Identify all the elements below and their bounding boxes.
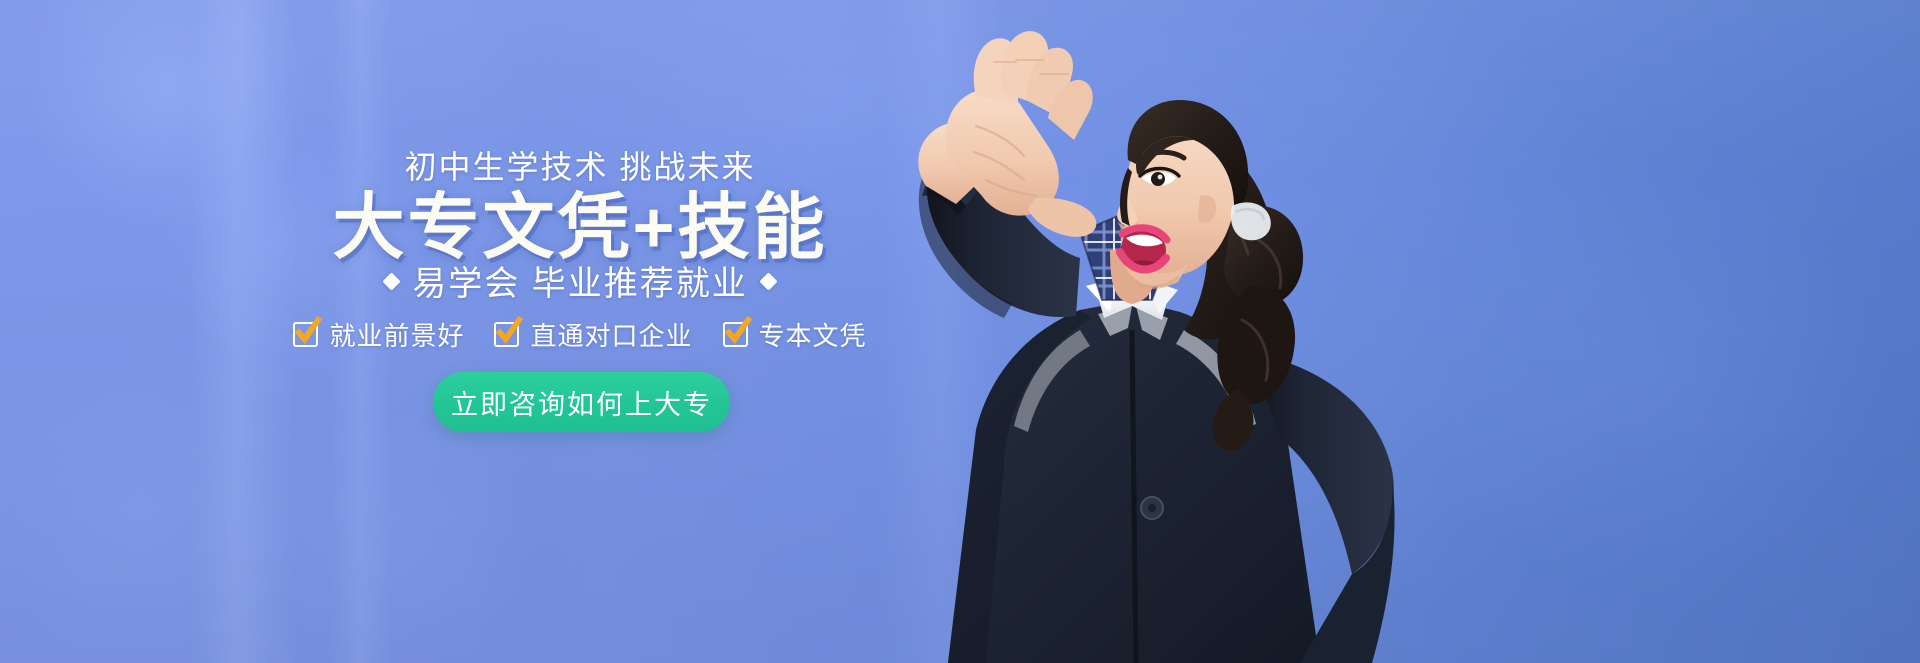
banner-subline-text: 易学会 毕业推荐就业 (412, 256, 747, 307)
checkbox-checked-icon (494, 322, 519, 347)
diamond-icon (383, 272, 401, 290)
consult-cta-button[interactable]: 立即咨询如何上大专 (433, 372, 730, 432)
feature-item: 专本文凭 (723, 316, 867, 353)
promo-banner: 初中生学技术 挑战未来 大专文凭+技能 易学会 毕业推荐就业 就业前景好 (0, 0, 1920, 663)
checkbox-checked-icon (723, 322, 748, 347)
feature-label: 专本文凭 (759, 316, 867, 353)
feature-label: 直通对口企业 (530, 316, 692, 353)
banner-eyebrow: 初中生学技术 挑战未来 (0, 142, 1160, 188)
feature-label: 就业前景好 (329, 316, 464, 353)
banner-subline: 易学会 毕业推荐就业 (0, 256, 1160, 307)
feature-item: 就业前景好 (293, 316, 464, 353)
feature-list: 就业前景好 直通对口企业 专本文凭 (0, 316, 1160, 353)
banner-copy: 初中生学技术 挑战未来 大专文凭+技能 易学会 毕业推荐就业 就业前景好 (0, 0, 1160, 663)
checkbox-checked-icon (293, 322, 318, 347)
diamond-icon (759, 272, 777, 290)
feature-item: 直通对口企业 (494, 316, 692, 353)
